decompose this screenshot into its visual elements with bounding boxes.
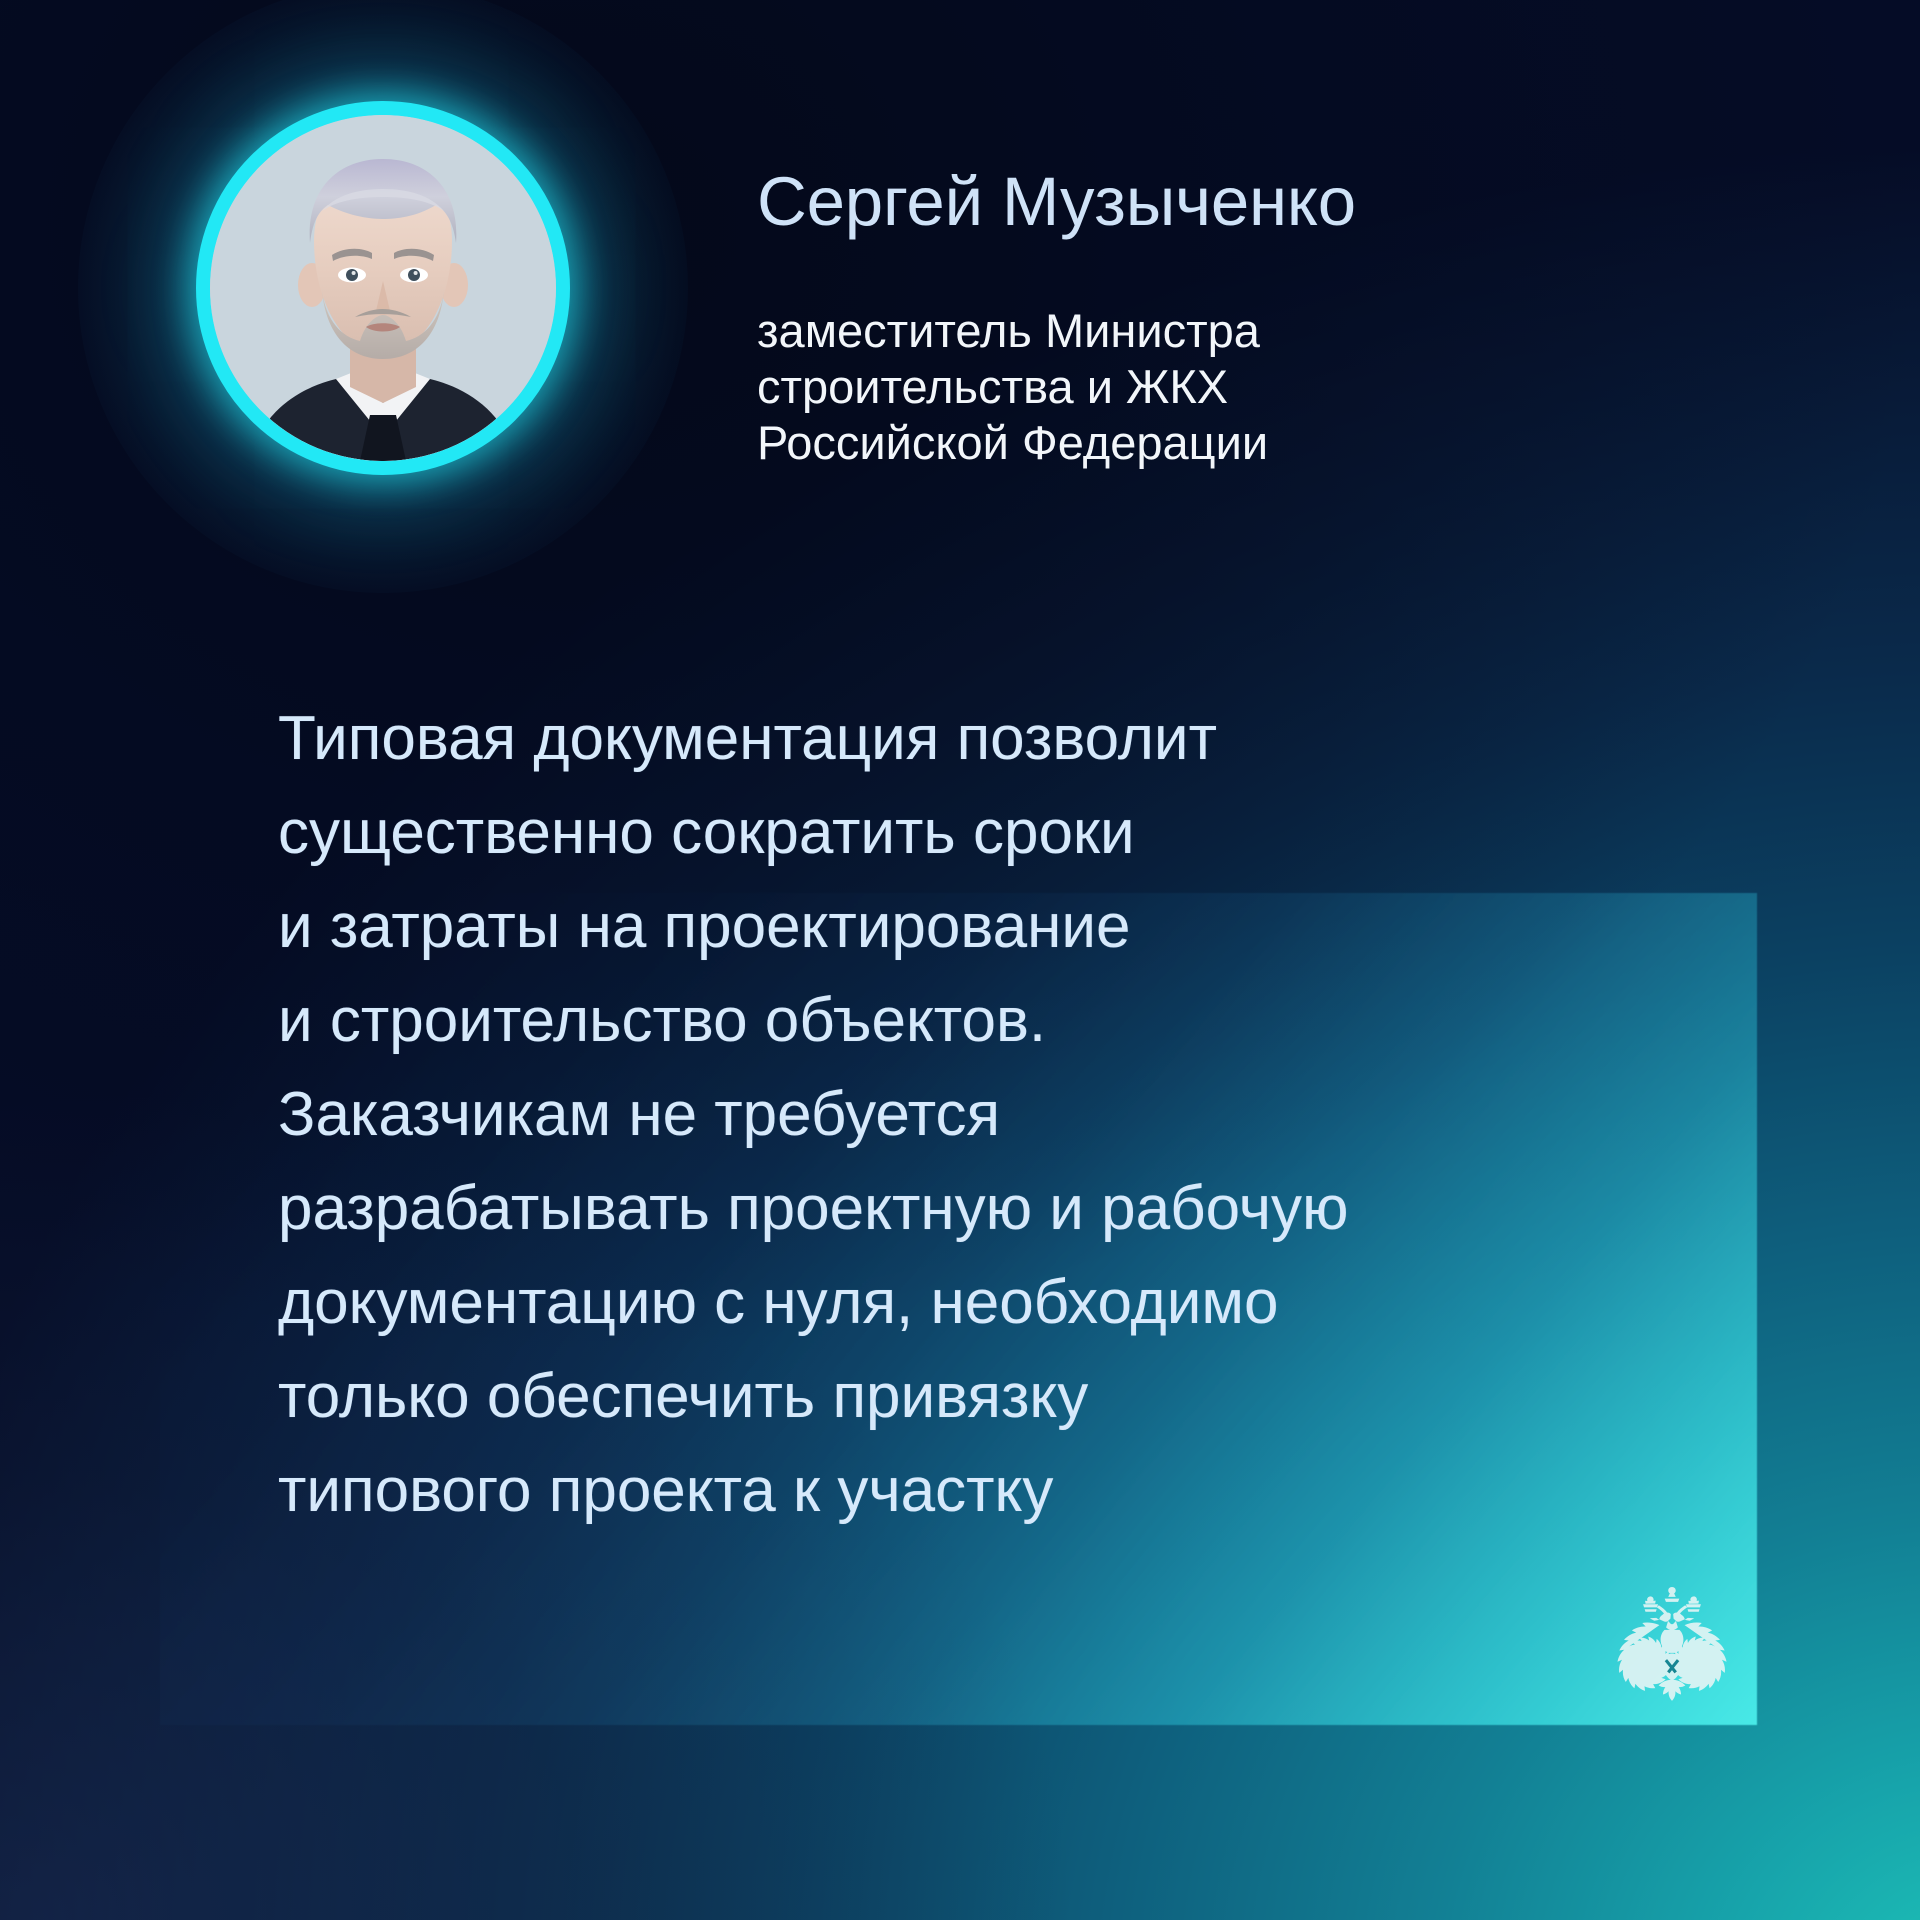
quote-text: Типовая документация позволит существенн…: [278, 692, 1758, 1538]
speaker-name: Сергей Музыченко: [757, 162, 1356, 241]
avatar-ring: [196, 101, 570, 475]
slide-canvas: Сергей Музыченко заместитель Министра ст…: [0, 0, 1920, 1920]
speaker-role: заместитель Министра строительства и ЖКХ…: [757, 303, 1268, 471]
portrait-photo-icon: [210, 115, 556, 461]
russian-double-headed-eagle-emblem-icon: [1613, 1583, 1731, 1707]
avatar: [196, 101, 570, 475]
